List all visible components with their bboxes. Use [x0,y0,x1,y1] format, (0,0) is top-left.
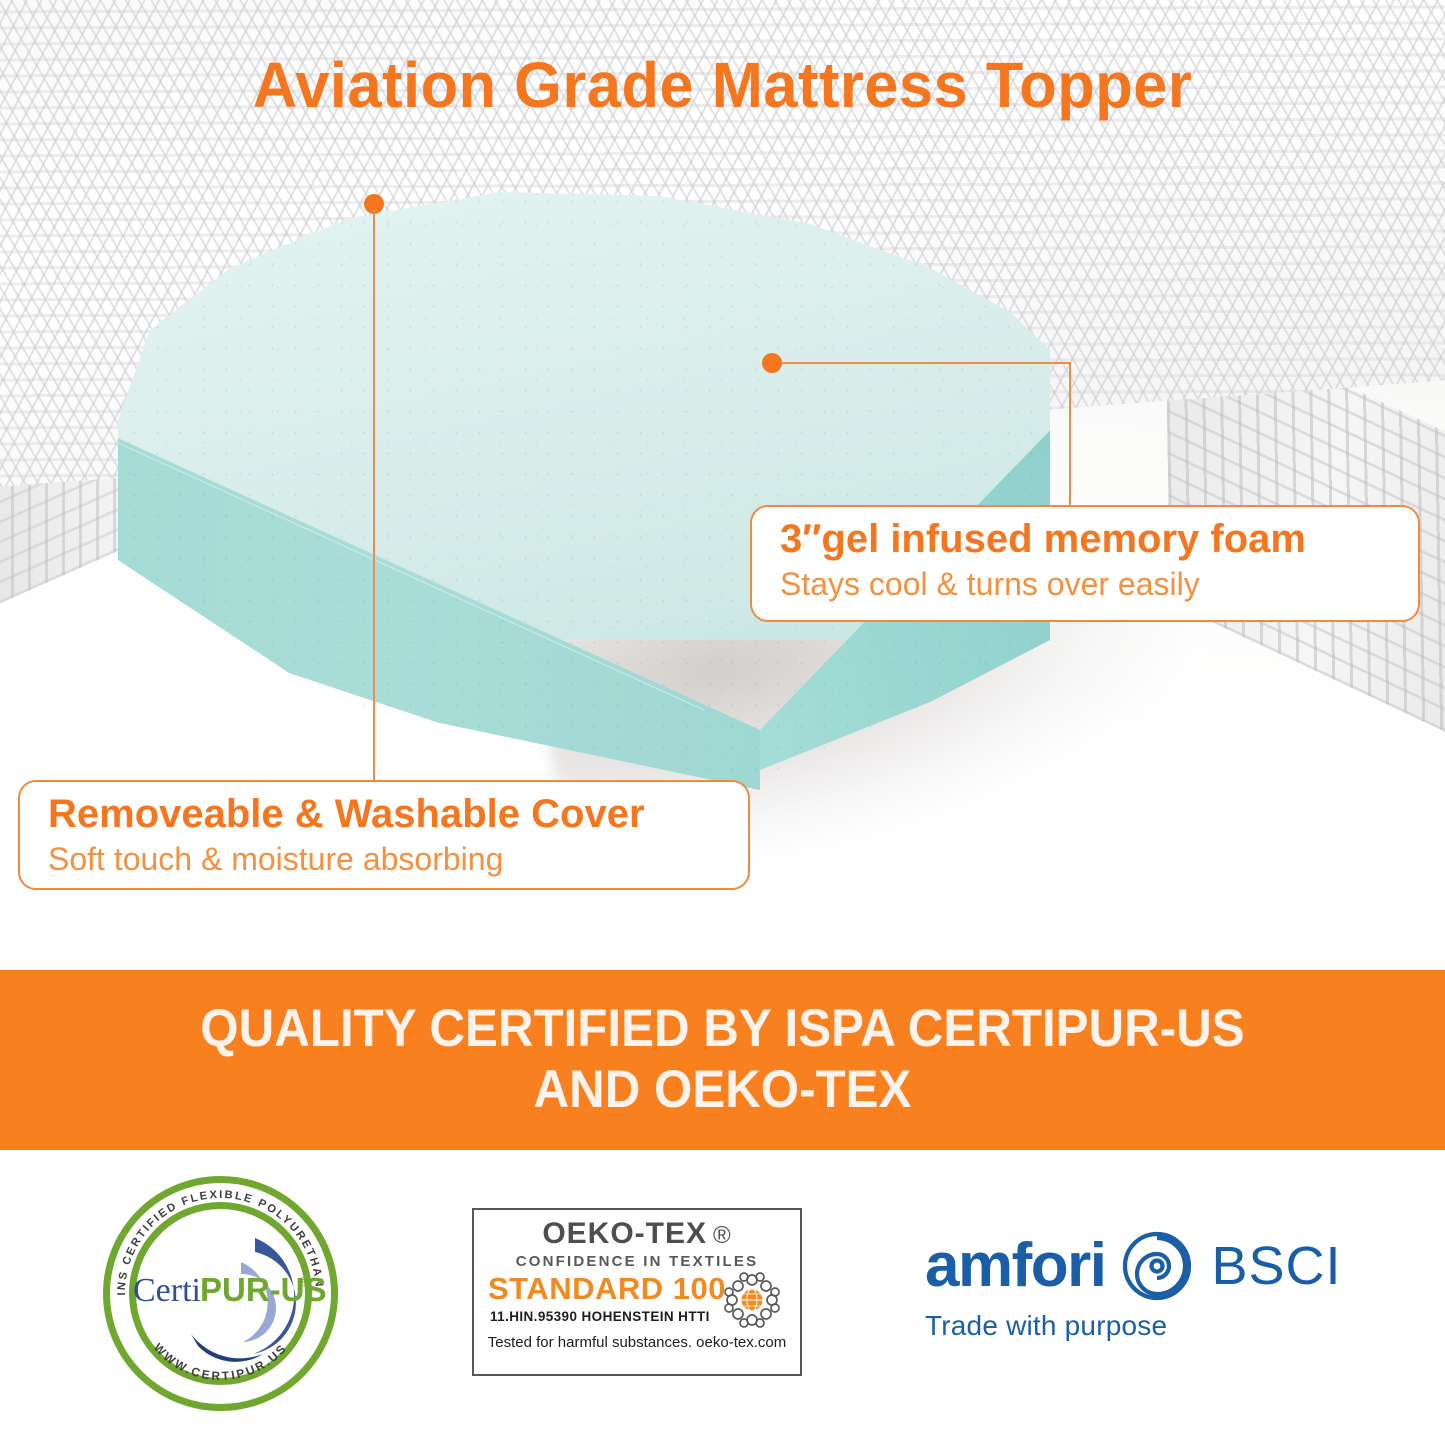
leader-line-gel-foam-horizontal [782,362,1071,364]
leader-line-washable-cover-vertical [373,210,375,782]
certipur-us-logo: CONTAINS CERTIFIED FLEXIBLE POLYURETHANE… [103,1176,338,1411]
callout-washable-cover: Removeable & Washable Cover Soft touch &… [18,780,750,890]
certipur-wordmark-certi: Certi [133,1272,201,1309]
amfori-program-bsci: BSCI [1211,1239,1341,1293]
amfori-tagline: Trade with purpose [925,1310,1365,1342]
oeko-tex-logo: OEKO-TEX® CONFIDENCE IN TEXTILES STANDAR… [472,1208,802,1376]
oeko-tex-tested-line: Tested for harmful substances. oeko-tex.… [474,1334,800,1351]
certification-banner-line1: QUALITY CERTIFIED BY ISPA CERTIPUR-US [200,999,1244,1060]
certipur-registered-mark: ® [299,1274,309,1289]
amfori-spiral-icon [1121,1230,1193,1302]
amfori-logo-row: amfori BSCI [925,1230,1365,1302]
callout-washable-cover-subtitle: Soft touch & moisture absorbing [48,839,722,879]
oeko-tex-globe-icon [716,1264,788,1336]
oeko-tex-brand-row: OEKO-TEX® [474,1219,800,1249]
product-infographic: Aviation Grade Mattress Topper 3″gel inf… [0,0,1445,1445]
callout-gel-foam: 3″gel infused memory foam Stays cool & t… [750,505,1420,622]
certification-logo-row: CONTAINS CERTIFIED FLEXIBLE POLYURETHANE… [0,1150,1445,1445]
callout-gel-foam-title: 3″gel infused memory foam [780,515,1392,564]
oeko-tex-brand: OEKO-TEX [542,1217,707,1250]
callout-gel-foam-subtitle: Stays cool & turns over easily [780,564,1392,604]
leader-dot-gel-foam [762,353,782,373]
oeko-tex-registered-mark: ® [713,1222,732,1249]
certification-banner-line2: AND OEKO-TEX [200,1060,1244,1121]
amfori-wordmark: amfori [925,1235,1105,1297]
callout-washable-cover-title: Removeable & Washable Cover [48,790,722,839]
amfori-bsci-logo: amfori BSCI Trade with purpose [925,1230,1365,1360]
page-title: Aviation Grade Mattress Topper [29,48,1416,122]
certification-banner-text: QUALITY CERTIFIED BY ISPA CERTIPUR-US AN… [200,999,1244,1121]
leader-line-gel-foam-vertical [1069,362,1071,507]
certification-banner: QUALITY CERTIFIED BY ISPA CERTIPUR-US AN… [0,970,1445,1150]
